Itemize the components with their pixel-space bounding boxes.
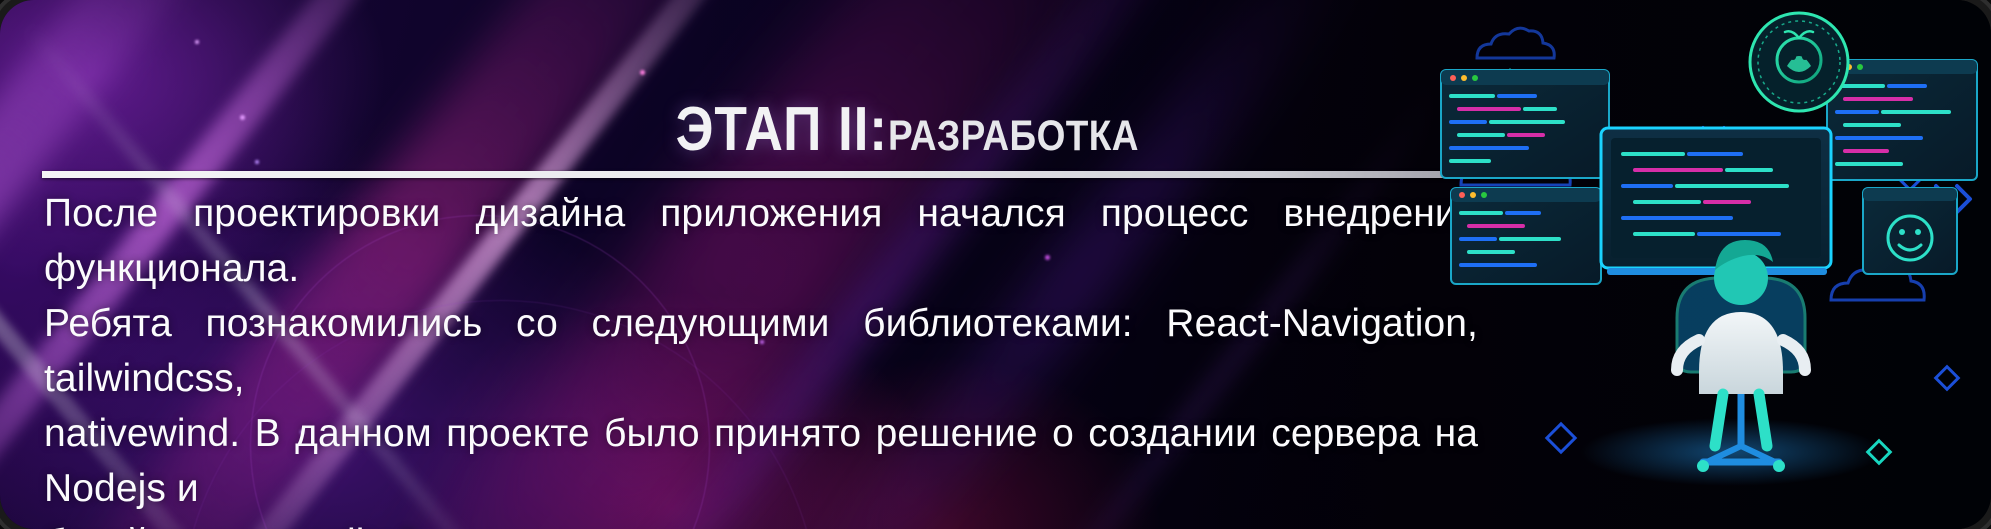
title-stage-label: ЭТАП II: [676, 99, 888, 161]
body-line: базой данных sqlite3. [44, 516, 1478, 529]
body-line: После проектировки дизайна приложения на… [44, 186, 1478, 296]
logo-badge [1750, 13, 1848, 111]
presentation-slide: ЭТАП II: РАЗРАБОТКА После проектировки д… [0, 0, 1991, 529]
code-window [1827, 60, 1977, 180]
torso [1699, 312, 1783, 394]
title-divider [42, 171, 1479, 178]
slide-title: ЭТАП II: РАЗРАБОТКА [641, 99, 1180, 161]
code-window [1451, 188, 1601, 284]
slide-content: ЭТАП II: РАЗРАБОТКА После проектировки д… [0, 0, 1525, 529]
code-window [1441, 70, 1609, 178]
cloud-icon [1477, 28, 1554, 58]
emoji-window [1863, 188, 1957, 274]
body-line: Ребята познакомились со следующими библи… [44, 296, 1478, 406]
developer-at-desk-illustration [1431, 0, 1991, 529]
body-line: nativewind. В данном проекте было принят… [44, 406, 1478, 516]
title-topic-label: РАЗРАБОТКА [888, 115, 1139, 158]
body-text: После проектировки дизайна приложения на… [44, 186, 1478, 529]
monitor [1601, 128, 1831, 268]
